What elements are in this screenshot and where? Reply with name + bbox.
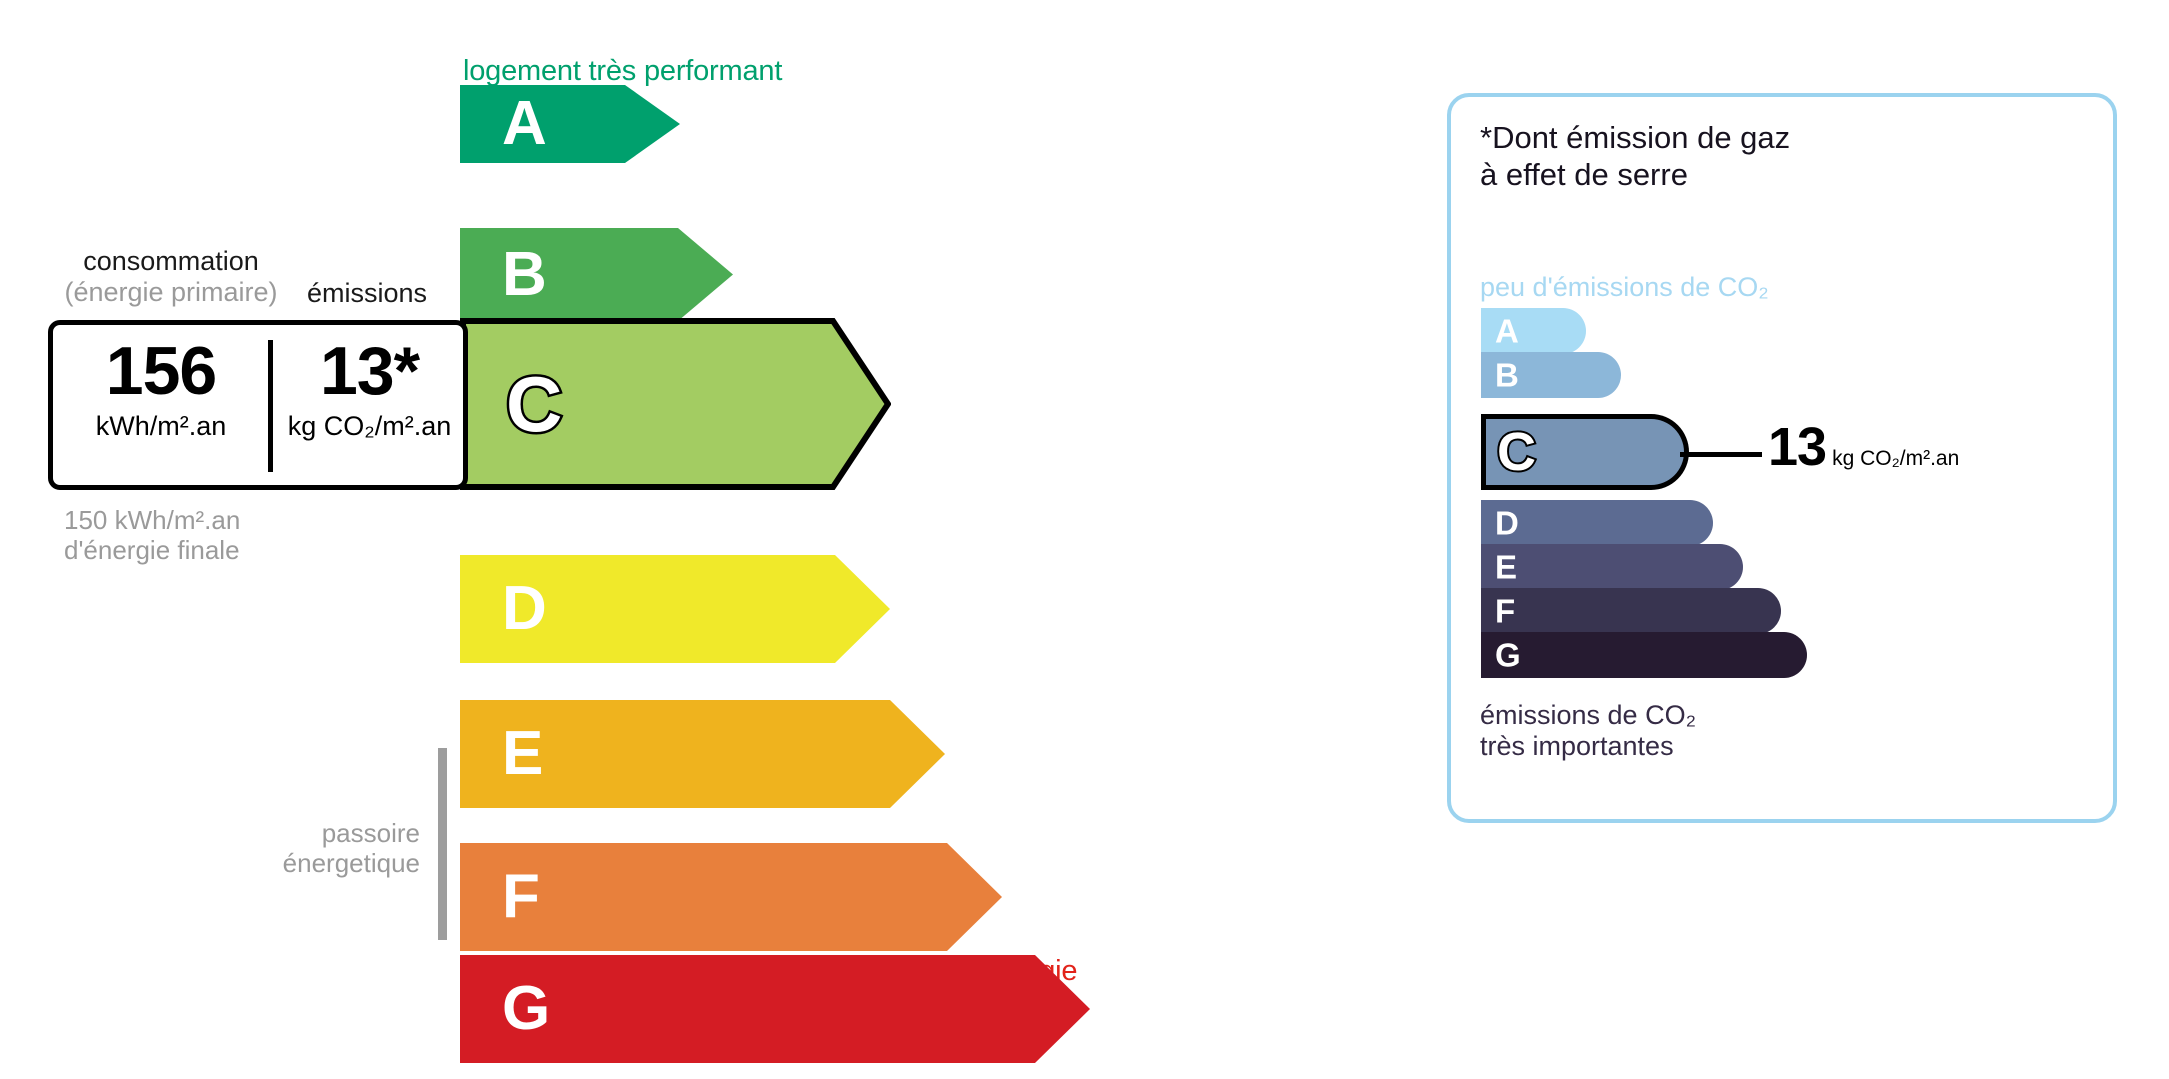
energy-class-arrow-e	[460, 700, 945, 808]
consumption-unit: kWh/m².an	[56, 411, 266, 442]
energy-class-arrow-f	[460, 843, 1002, 951]
emissions-value-cell: 13* kg CO₂/m².an	[277, 338, 462, 442]
value-box-divider	[268, 340, 273, 472]
final-energy-note: 150 kWh/m².an d'énergie finale	[64, 505, 240, 565]
energy-class-arrow-d	[460, 555, 890, 663]
energy-class-arrow-a	[460, 85, 680, 163]
ges-title-line2: à effet de serre	[1480, 157, 1790, 194]
passoire-label-line2: énergetique	[230, 848, 420, 878]
ges-class-bar-g	[1481, 632, 1807, 678]
scale-top-label: logement très performant	[463, 55, 782, 88]
ges-class-row-f: F	[1481, 588, 1781, 634]
ges-callout-unit: kg CO₂/m².an	[1832, 447, 1959, 470]
passoire-label: passoire énergetique	[230, 818, 420, 878]
ges-class-letter-c: C	[1497, 425, 1536, 479]
consumption-value-cell: 156 kWh/m².an	[56, 338, 266, 442]
energy-class-arrow-g	[460, 955, 1090, 1063]
energy-class-row-f: F	[460, 843, 1002, 951]
ges-class-letter-d: D	[1495, 507, 1519, 540]
passoire-marker-bar	[438, 748, 447, 940]
consumption-header-line2: (énergie primaire)	[56, 277, 286, 308]
ges-bottom-note-line2: très importantes	[1480, 731, 1696, 762]
ges-class-row-d: D	[1481, 500, 1713, 546]
ges-bottom-note-line1: émissions de CO₂	[1480, 700, 1696, 731]
consumption-header-line1: consommation	[83, 246, 259, 276]
ges-title-line1: *Dont émission de gaz	[1480, 120, 1790, 157]
energy-class-arrow-b	[460, 228, 733, 321]
ges-selected-outline-left	[1481, 414, 1486, 490]
ges-class-bar-e	[1481, 544, 1743, 590]
ges-class-row-a: A	[1481, 308, 1586, 354]
ges-class-row-e: E	[1481, 544, 1743, 590]
final-energy-line1: 150 kWh/m².an	[64, 505, 240, 535]
emissions-value: 13*	[277, 338, 462, 405]
ges-class-row-g: G	[1481, 632, 1807, 678]
ges-class-bar-f	[1481, 588, 1781, 634]
ges-panel-title: *Dont émission de gaz à effet de serre	[1480, 120, 1790, 193]
passoire-label-line1: passoire	[230, 818, 420, 848]
ges-callout-leader-line	[1680, 452, 1762, 457]
ges-callout: 13kg CO₂/m².an	[1768, 416, 1959, 478]
ges-class-letter-a: A	[1495, 315, 1519, 348]
consumption-header: consommation (énergie primaire)	[56, 246, 286, 309]
energy-class-arrow-c	[460, 318, 891, 490]
ges-class-letter-f: F	[1495, 595, 1515, 628]
ges-callout-value: 13	[1768, 417, 1826, 477]
ges-class-letter-b: B	[1495, 359, 1519, 392]
energy-class-row-b: B	[460, 228, 733, 321]
ges-class-row-c: C	[1481, 414, 1689, 490]
ges-class-letter-g: G	[1495, 639, 1521, 672]
consumption-value: 156	[56, 338, 266, 405]
energy-class-row-a: A	[460, 85, 680, 163]
ges-bottom-note: émissions de CO₂ très importantes	[1480, 700, 1696, 763]
ges-class-row-b: B	[1481, 352, 1621, 398]
energy-class-row-e: E	[460, 700, 945, 808]
final-energy-line2: d'énergie finale	[64, 535, 240, 565]
emissions-header: émissions	[297, 278, 437, 309]
ges-top-note: peu d'émissions de CO₂	[1480, 272, 1769, 303]
energy-class-row-c: C	[460, 318, 891, 490]
emissions-unit: kg CO₂/m².an	[277, 411, 462, 442]
energy-class-row-g: G	[460, 955, 1090, 1063]
ges-class-letter-e: E	[1495, 551, 1517, 584]
energy-class-row-d: D	[460, 555, 890, 663]
